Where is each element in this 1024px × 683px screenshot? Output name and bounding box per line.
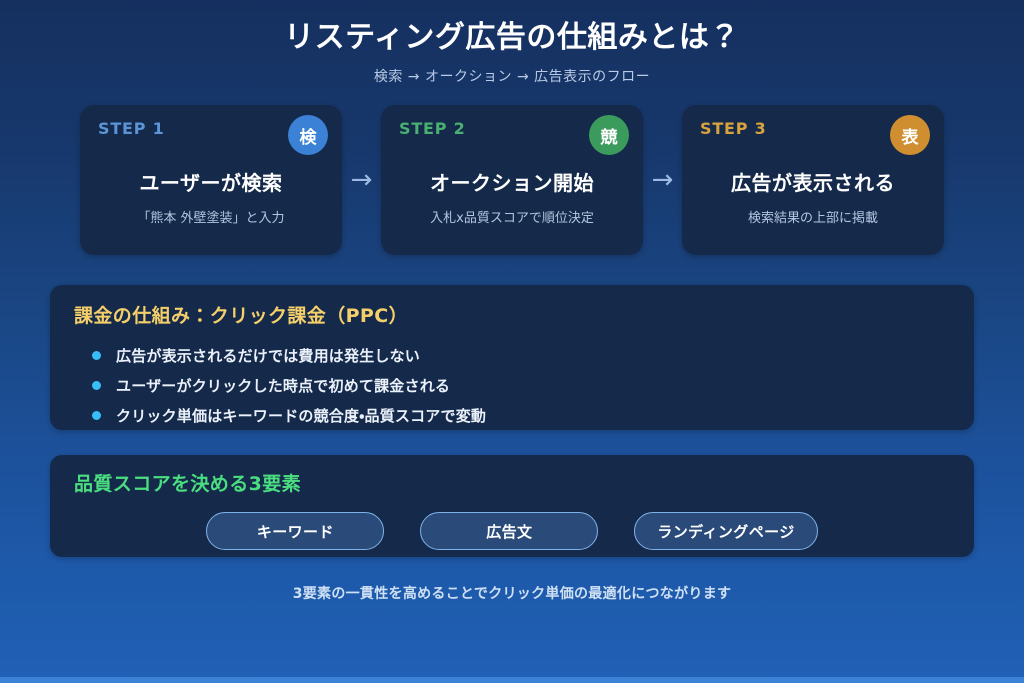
page-subtitle: 検索 → オークション → 広告表示のフロー bbox=[0, 66, 1024, 86]
quality-factor-pill-landing-page[interactable]: ランディングページ bbox=[634, 512, 817, 550]
step-title-3: 広告が表示される bbox=[682, 167, 944, 196]
ppc-heading: 課金の仕組み：クリック課金（PPC） bbox=[74, 301, 950, 328]
ppc-bullet-list: 広告が表示されるだけでは費用は発生しない ユーザーがクリックした時点で初めて課金… bbox=[74, 340, 950, 430]
bottom-accent-strip bbox=[0, 677, 1024, 683]
step-body-3: 広告が表示される 検索結果の上部に掲載 bbox=[682, 167, 944, 226]
step-card-3[interactable]: STEP 3 表 広告が表示される 検索結果の上部に掲載 bbox=[682, 105, 944, 255]
quality-score-heading: 品質スコアを決める3要素 bbox=[74, 469, 950, 496]
steps-flow: STEP 1 検 ユーザーが検索 「熊本 外壁塗装」と入力 → STEP 2 競… bbox=[80, 105, 944, 255]
page-title: リスティング広告の仕組みとは？ bbox=[0, 19, 1024, 57]
ppc-list-item-label: クリック単価はキーワードの競合度・品質スコアで変動 bbox=[116, 405, 486, 426]
step-badge-icon-2: 競 bbox=[589, 115, 629, 155]
quality-factor-pill-ad-copy[interactable]: 広告文 bbox=[420, 512, 598, 550]
step-card-1[interactable]: STEP 1 検 ユーザーが検索 「熊本 外壁塗装」と入力 bbox=[80, 105, 342, 255]
quality-score-panel: 品質スコアを決める3要素 キーワード 広告文 ランディングページ bbox=[50, 455, 974, 557]
quality-factor-list: キーワード 広告文 ランディングページ bbox=[74, 512, 950, 550]
flow-arrow-icon-1: → bbox=[344, 167, 380, 193]
infographic-page: リスティング広告の仕組みとは？ 検索 → オークション → 広告表示のフロー S… bbox=[0, 0, 1024, 683]
step-card-2[interactable]: STEP 2 競 オークション開始 入札x品質スコアで順位決定 bbox=[381, 105, 643, 255]
ppc-list-item: 広告が表示されるだけでは費用は発生しない bbox=[74, 340, 950, 370]
ppc-list-item: クリック単価はキーワードの競合度・品質スコアで変動 bbox=[74, 400, 950, 430]
step-badge-icon-3: 表 bbox=[890, 115, 930, 155]
bullet-dot-icon bbox=[92, 381, 101, 390]
step-desc-2: 入札x品質スコアで順位決定 bbox=[381, 207, 643, 226]
flow-arrow-icon-2: → bbox=[645, 167, 681, 193]
ppc-panel: 課金の仕組み：クリック課金（PPC） 広告が表示されるだけでは費用は発生しない … bbox=[50, 285, 974, 430]
ppc-list-item-label: 広告が表示されるだけでは費用は発生しない bbox=[116, 345, 420, 366]
step-body-1: ユーザーが検索 「熊本 外壁塗装」と入力 bbox=[80, 167, 342, 226]
quality-factor-label: ランディングページ bbox=[657, 521, 794, 542]
step-desc-1: 「熊本 外壁塗装」と入力 bbox=[80, 207, 342, 226]
step-body-2: オークション開始 入札x品質スコアで順位決定 bbox=[381, 167, 643, 226]
footer-note: 3要素の一貫性を高めることでクリック単価の最適化につながります bbox=[0, 583, 1024, 603]
step-title-1: ユーザーが検索 bbox=[80, 167, 342, 196]
step-title-2: オークション開始 bbox=[381, 167, 643, 196]
header: リスティング広告の仕組みとは？ 検索 → オークション → 広告表示のフロー bbox=[0, 0, 1024, 86]
quality-factor-label: 広告文 bbox=[486, 521, 532, 542]
step-desc-3: 検索結果の上部に掲載 bbox=[682, 207, 944, 226]
quality-factor-pill-keyword[interactable]: キーワード bbox=[206, 512, 384, 550]
bullet-dot-icon bbox=[92, 351, 101, 360]
ppc-list-item: ユーザーがクリックした時点で初めて課金される bbox=[74, 370, 950, 400]
step-badge-icon-1: 検 bbox=[288, 115, 328, 155]
ppc-list-item-label: ユーザーがクリックした時点で初めて課金される bbox=[116, 375, 450, 396]
quality-factor-label: キーワード bbox=[257, 521, 334, 542]
bullet-dot-icon bbox=[92, 411, 101, 420]
